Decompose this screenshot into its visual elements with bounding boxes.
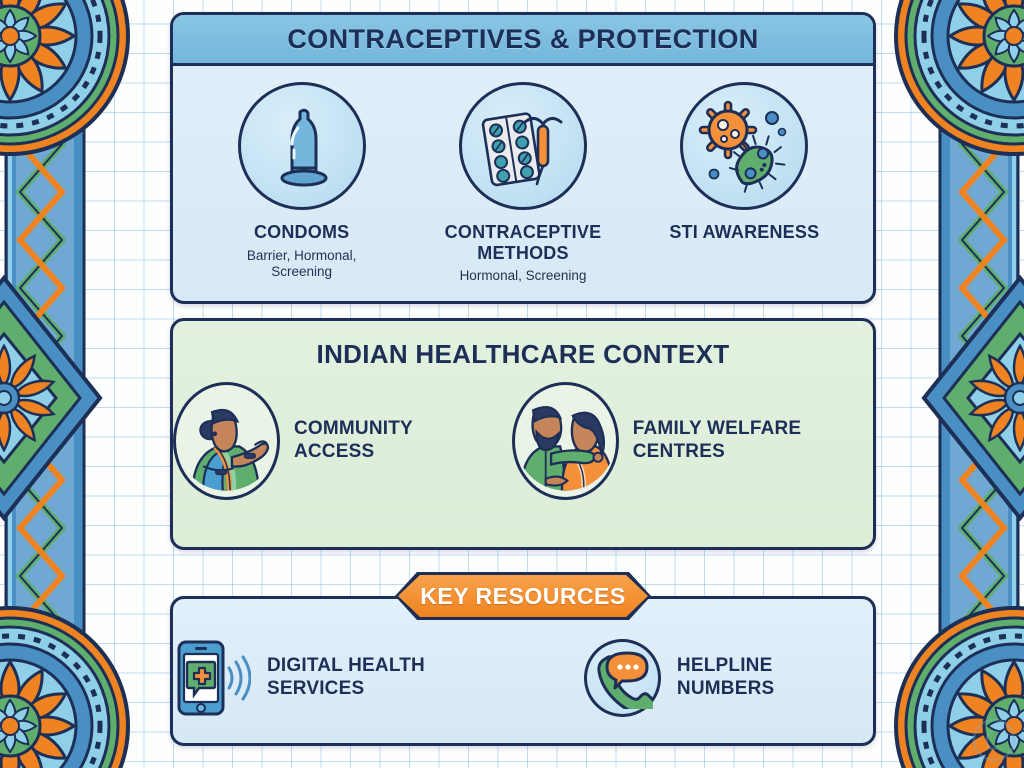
card-sti-awareness[interactable]: STI AWARENESS: [644, 82, 844, 248]
item-family-welfare-centres-label: FAMILY WELFARE CENTRES: [633, 418, 873, 464]
phone-chat-icon: [584, 639, 661, 717]
item-helpline-numbers[interactable]: HELPLINE NUMBERS: [584, 639, 873, 717]
condom-icon: [238, 82, 366, 210]
smartphone-health-icon: [173, 638, 251, 718]
pills-iud-icon: [459, 82, 587, 210]
panel-healthcare-title: INDIAN HEALTHCARE CONTEXT: [317, 339, 730, 370]
item-digital-health-services-label: DIGITAL HEALTH SERVICES: [267, 655, 524, 701]
item-family-welfare-centres[interactable]: FAMILY WELFARE CENTRES: [512, 382, 873, 500]
virus-bacteria-icon: [680, 82, 808, 210]
infographic-canvas: CONTRACEPTIVES & PROTECTION CONDOMS Barr…: [0, 0, 1024, 768]
panel-indian-healthcare-context: INDIAN HEALTHCARE CONTEXT: [170, 318, 876, 550]
card-condoms-subtitle: Barrier, Hormonal, Screening: [222, 248, 382, 280]
panel-contraceptives-title: CONTRACEPTIVES & PROTECTION: [287, 24, 758, 55]
healthcare-items-row: COMMUNITY ACCESS: [173, 382, 873, 500]
card-sti-awareness-title: STI AWARENESS: [669, 222, 819, 243]
mandala-border-left: [0, 0, 130, 768]
resources-items-row: DIGITAL HEALTH SERVICES HELPLINE NUMBERS: [173, 599, 873, 743]
card-contraceptive-methods-title: CONTRACEPTIVE METHODS: [423, 222, 623, 263]
key-resources-banner-label: KEY RESOURCES: [420, 583, 625, 610]
card-condoms[interactable]: CONDOMS Barrier, Hormonal, Screening: [202, 82, 402, 280]
card-contraceptive-methods[interactable]: CONTRACEPTIVE METHODS Hormonal, Screenin…: [423, 82, 623, 284]
card-condoms-title: CONDOMS: [254, 222, 349, 243]
contraceptive-cards-row: CONDOMS Barrier, Hormonal, Screening: [173, 66, 873, 284]
item-community-access-label: COMMUNITY ACCESS: [294, 418, 478, 464]
key-resources-banner[interactable]: KEY RESOURCES: [398, 575, 648, 617]
health-worker-woman-icon: [173, 382, 280, 500]
card-contraceptive-methods-subtitle: Hormonal, Screening: [460, 268, 587, 284]
watermark-logo: [972, 718, 1016, 762]
item-community-access[interactable]: COMMUNITY ACCESS: [173, 382, 478, 500]
panel-contraceptives-header: CONTRACEPTIVES & PROTECTION: [173, 15, 873, 66]
item-digital-health-services[interactable]: DIGITAL HEALTH SERVICES: [173, 638, 524, 718]
mandala-border-right: [894, 0, 1024, 768]
panel-contraceptives-protection: CONTRACEPTIVES & PROTECTION CONDOMS Barr…: [170, 12, 876, 304]
panel-key-resources: KEY RESOURCES: [170, 596, 876, 746]
item-helpline-numbers-label: HELPLINE NUMBERS: [677, 655, 873, 701]
couple-family-icon: [512, 382, 619, 500]
